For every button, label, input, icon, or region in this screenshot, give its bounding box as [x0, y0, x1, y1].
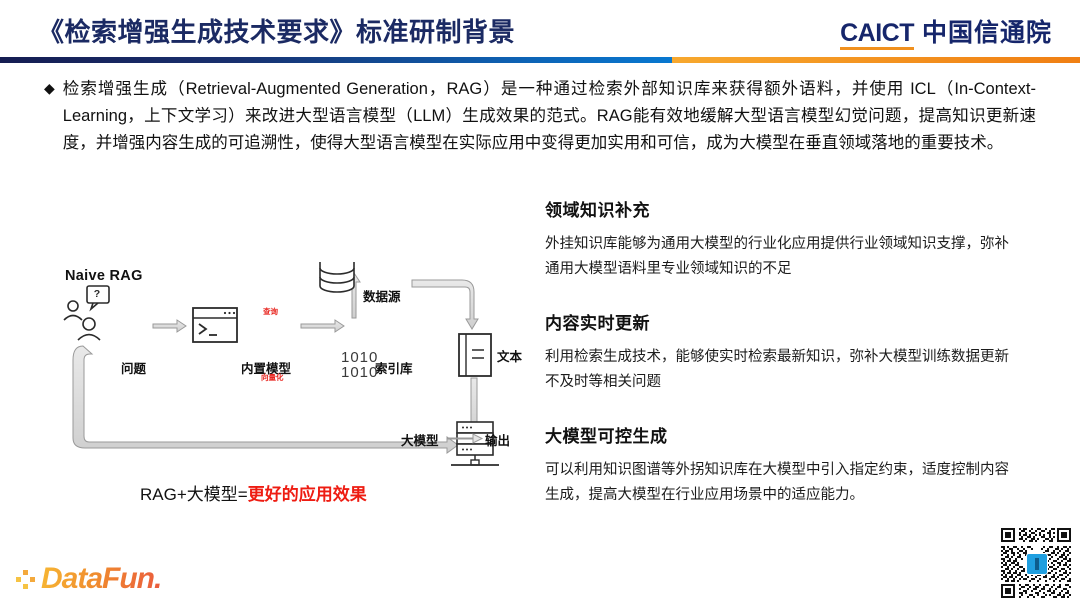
question-mark-glyph: ?	[94, 288, 100, 300]
diagram-label-data-source: 数据源	[363, 286, 401, 305]
feature-body: 外挂知识库能够为通用大模型的行业化应用提供行业领域知识支撑，弥补通用大模型语料里…	[545, 232, 1015, 282]
datafun-dots-icon	[16, 570, 35, 589]
feature-body: 利用检索生成技术，能够使实时检索最新知识，弥补大模型训练数据更新不及时等相关问题	[545, 345, 1015, 395]
datafun-wordmark: DataFun.	[41, 562, 161, 596]
feature-block: 领域知识补充 外挂知识库能够为通用大模型的行业化应用提供行业领域知识支撑，弥补通…	[545, 196, 1015, 282]
qr-center-logo-icon	[1026, 553, 1048, 575]
text-document-icon	[459, 334, 491, 376]
arrow-datasource-to-text	[412, 280, 478, 329]
diagram-title: Naive RAG	[65, 268, 143, 284]
brand-acronym: CAICT	[840, 21, 914, 50]
feature-block: 大模型可控生成 可以利用知识图谱等外拐知识库在大模型中引入指定约束，适度控制内容…	[545, 422, 1015, 508]
feature-heading: 领域知识补充	[545, 196, 1015, 221]
qr-code[interactable]	[999, 526, 1073, 600]
formula-highlight: 更好的应用效果	[248, 485, 367, 504]
diagram-binary-row: 1010	[341, 350, 378, 365]
header-divider	[0, 57, 1080, 63]
diagram-label-output: 输出	[485, 430, 510, 449]
brand-chinese-name: 中国信通院	[922, 13, 1052, 49]
formula-line: RAG+大模型=更好的应用效果	[140, 480, 367, 505]
terminal-window-icon	[193, 308, 237, 342]
page-title: 《检索增强生成技术要求》标准研制背景	[38, 12, 515, 49]
intro-paragraph: ◆ 检索增强生成（Retrieval-Augmented Generation，…	[44, 76, 1036, 157]
diagram-label-big-model: 大模型	[401, 430, 439, 449]
header-divider-blue	[0, 57, 672, 63]
diagram-label-index-store: 索引库	[375, 358, 413, 377]
caict-logo: CAICT 中国信通院	[840, 13, 1052, 50]
feature-list: 领域知识补充 外挂知识库能够为通用大模型的行业化应用提供行业领域知识支撑，弥补通…	[545, 196, 1015, 535]
diagram-edge-label-vectorize: 向量化	[261, 372, 284, 383]
intro-text: 检索增强生成（Retrieval-Augmented Generation，RA…	[63, 76, 1036, 157]
feature-block: 内容实时更新 利用检索生成技术，能够使实时检索最新知识，弥补大模型训练数据更新不…	[545, 309, 1015, 395]
feature-body: 可以利用知识图谱等外拐知识库在大模型中引入指定约束，适度控制内容生成，提高大模型…	[545, 458, 1015, 508]
formula-prefix: RAG+大模型=	[140, 485, 248, 504]
diagram-label-question: 问题	[121, 358, 146, 377]
database-cylinder-icon	[320, 262, 354, 292]
arrow-model-to-index	[301, 320, 344, 332]
feature-heading: 内容实时更新	[545, 309, 1015, 334]
diagram-label-text-doc: 文本	[497, 346, 522, 365]
arrow-question-to-model	[153, 320, 186, 332]
user-question-icon	[64, 286, 109, 340]
datafun-logo: DataFun.	[16, 562, 161, 596]
header-divider-orange	[672, 57, 1080, 63]
diagram-edge-label-query: 查询	[263, 306, 278, 317]
diagram-binary-row: 1010	[341, 365, 378, 380]
feature-heading: 大模型可控生成	[545, 422, 1015, 447]
bullet-diamond-icon: ◆	[44, 76, 55, 101]
arrow-bigmodel-output	[447, 430, 487, 446]
